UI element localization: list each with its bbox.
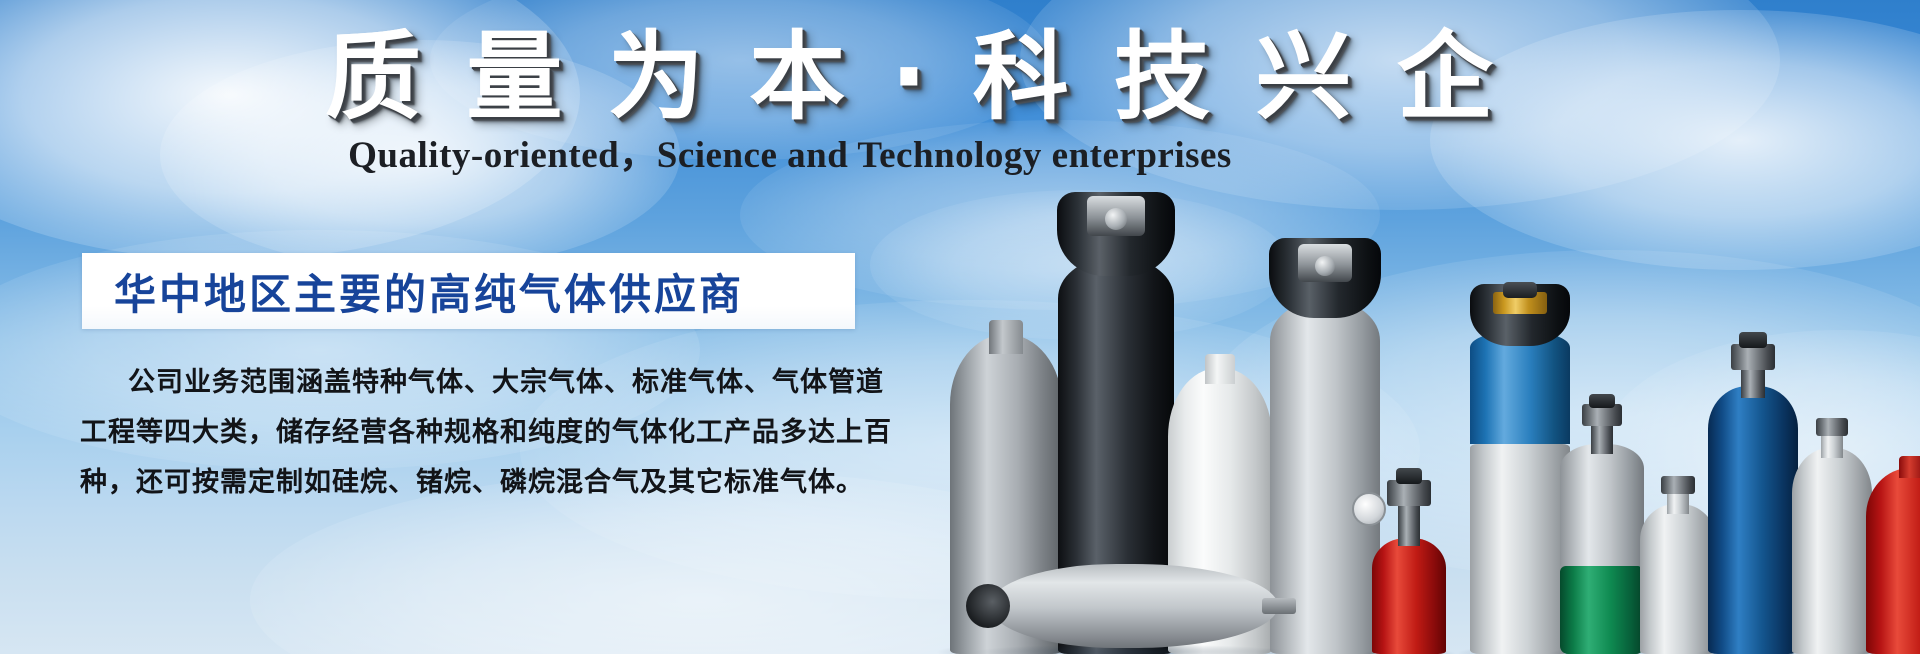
promotional-banner: 质 量 为 本 · 科 技 兴 企 Quality-oriented，Scien… [0, 0, 1920, 654]
slogan-box: 华中地区主要的高纯气体供应商 [82, 253, 855, 329]
cylinder-horizontal-tank [966, 558, 1296, 654]
paragraph-line: 公司业务范围涵盖特种气体、大宗气体、标准气体、气体管道 [80, 358, 870, 408]
paragraph-line: 工程等四大类，储存经营各种规格和纯度的气体化工产品多达上百 [80, 408, 870, 458]
slogan-text: 华中地区主要的高纯气体供应商 [82, 261, 744, 322]
cylinder-aluminium-small [1640, 474, 1716, 654]
banner-headline: 质 量 为 本 · 科 技 兴 企 [325, 22, 1255, 132]
cylinder-blue-silver [1470, 254, 1570, 654]
gas-cylinder-group [940, 160, 1920, 654]
description-paragraph: 公司业务范围涵盖特种气体、大宗气体、标准气体、气体管道 工程等四大类，储存经营各… [80, 358, 870, 508]
cylinder-green-bottom [1560, 384, 1644, 654]
paragraph-line: 种，还可按需定制如硅烷、锗烷、磷烷混合气及其它标准气体。 [80, 458, 870, 508]
cylinder-red-small [1372, 436, 1446, 654]
cylinder-aluminium-tall [1792, 414, 1872, 654]
pressure-gauge [1352, 492, 1386, 526]
cylinder-red-right [1866, 454, 1920, 654]
cylinder-blue-tall [1708, 324, 1798, 654]
